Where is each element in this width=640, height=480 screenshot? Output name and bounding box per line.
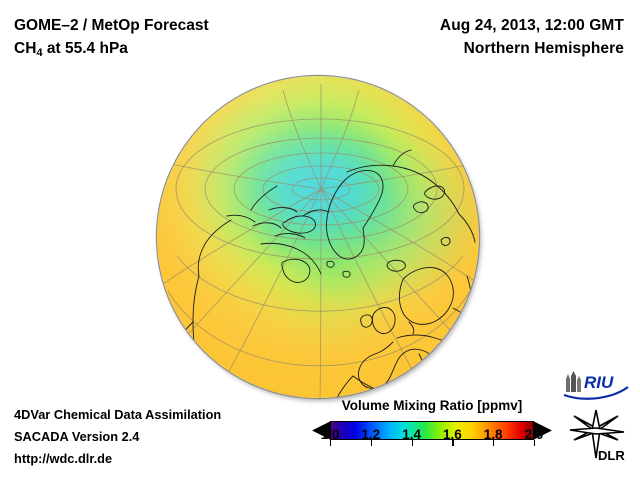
colorbar-tick-labels: 1.01.21.41.61.82.0	[318, 427, 546, 445]
header-right: Aug 24, 2013, 12:00 GMT Northern Hemisph…	[440, 14, 624, 60]
instrument-title: GOME–2 / MetOp Forecast	[14, 14, 209, 37]
colorbar-title: Volume Mixing Ratio [ppmv]	[312, 398, 552, 414]
riu-towers-icon	[566, 371, 581, 392]
credits-line-method: 4DVar Chemical Data Assimilation	[14, 404, 221, 426]
colorbar-tick-label: 1.2	[361, 427, 380, 442]
riu-wordmark: RIU	[584, 373, 614, 392]
header-left: GOME–2 / MetOp Forecast CH4 at 55.4 hPa	[14, 14, 209, 65]
figure-root: GOME–2 / MetOp Forecast CH4 at 55.4 hPa …	[0, 0, 640, 480]
dlr-wordmark: DLR	[598, 448, 625, 463]
riu-logo: RIU	[562, 370, 630, 400]
species-suffix: at 55.4 hPa	[43, 40, 128, 57]
colorbar-tick-label: 1.4	[402, 427, 421, 442]
species-level-title: CH4 at 55.4 hPa	[14, 37, 209, 65]
globe-disc	[157, 76, 479, 398]
species-prefix: CH	[14, 40, 36, 57]
colorbar-tick-label: 1.6	[443, 427, 462, 442]
datetime-label: Aug 24, 2013, 12:00 GMT	[440, 14, 624, 37]
region-label: Northern Hemisphere	[440, 37, 624, 60]
credits-line-version: SACADA Version 2.4	[14, 426, 221, 448]
globe-map	[157, 76, 479, 398]
credits-line-url[interactable]: http://wdc.dlr.de	[14, 448, 221, 470]
colorbar-tick-label: 1.8	[484, 427, 503, 442]
colorbar-tick-label: 1.0	[321, 427, 340, 442]
dlr-logo: DLR	[566, 406, 628, 464]
credits-block: 4DVar Chemical Data Assimilation SACADA …	[14, 404, 221, 470]
colorbar-group: Volume Mixing Ratio [ppmv] 1.01.21.41.61…	[312, 398, 552, 443]
coastline-layer	[157, 76, 479, 398]
colorbar-tick-label: 2.0	[525, 427, 544, 442]
